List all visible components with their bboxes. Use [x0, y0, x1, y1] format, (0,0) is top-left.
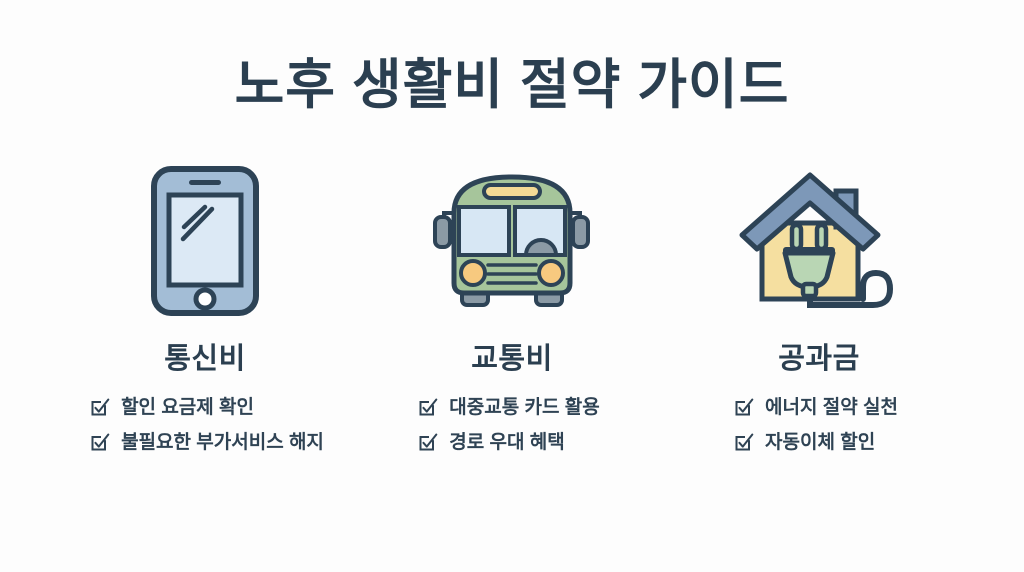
icon-container-utilities [730, 159, 908, 317]
checkbox-checked-icon [90, 432, 110, 452]
page-title: 노후 생활비 절약 가이드 [235, 56, 790, 115]
list-item: 대중교통 카드 활용 [418, 397, 599, 417]
list-item-label: 대중교통 카드 활용 [449, 398, 599, 417]
checklist-transport: 대중교통 카드 활용 경로 우대 혜택 [418, 397, 599, 452]
list-item-label: 불필요한 부가서비스 해지 [121, 433, 324, 452]
list-item-label: 할인 요금제 확인 [121, 398, 254, 417]
category-column-transport: 교통비 대중교통 카드 활용 경로 우대 혜택 [369, 159, 655, 452]
column-heading-utilities: 공과금 [778, 335, 860, 377]
infographic-poster: 노후 생활비 절약 가이드 통신비 [0, 0, 1024, 572]
checklist-communication: 할인 요금제 확인 불필요한 부가서비스 해지 [90, 397, 324, 452]
category-column-communication: 통신비 할인 요금제 확인 불필요한 부가서비스 [62, 159, 348, 452]
checkbox-checked-icon [418, 397, 438, 417]
bus-icon [426, 165, 598, 317]
list-item-label: 자동이체 할인 [765, 433, 875, 452]
smartphone-icon [149, 165, 261, 317]
list-item: 경로 우대 혜택 [418, 432, 599, 452]
list-item-label: 에너지 절약 실천 [765, 398, 898, 417]
icon-container-transport [426, 159, 598, 317]
column-heading-communication: 통신비 [164, 335, 246, 377]
checkbox-checked-icon [418, 432, 438, 452]
house-plug-icon [730, 165, 908, 317]
checkbox-checked-icon [90, 397, 110, 417]
checklist-utilities: 에너지 절약 실천 자동이체 할인 [734, 397, 898, 452]
checkbox-checked-icon [734, 397, 754, 417]
checkbox-checked-icon [734, 432, 754, 452]
list-item: 에너지 절약 실천 [734, 397, 898, 417]
list-item: 자동이체 할인 [734, 432, 898, 452]
list-item-label: 경로 우대 혜택 [449, 433, 564, 452]
list-item: 할인 요금제 확인 [90, 397, 324, 417]
icon-container-communication [149, 159, 261, 317]
category-column-utilities: 공과금 에너지 절약 실천 자동이체 할인 [676, 159, 962, 452]
category-columns: 통신비 할인 요금제 확인 불필요한 부가서비스 [62, 159, 962, 452]
column-heading-transport: 교통비 [471, 335, 553, 377]
list-item: 불필요한 부가서비스 해지 [90, 432, 324, 452]
